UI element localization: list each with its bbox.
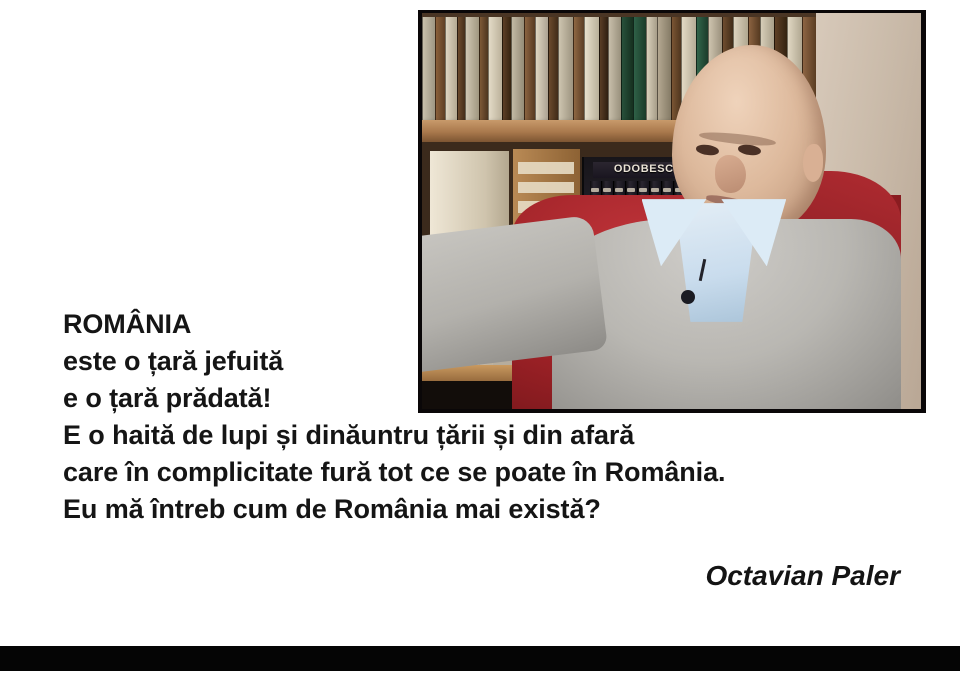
quote-text-block: ROMÂNIA este o țară jefuită e o țară pră… [63, 306, 923, 528]
quote-line-5: care în complicitate fură tot ce se poat… [63, 454, 923, 491]
quote-line-1: ROMÂNIA [63, 306, 923, 343]
quote-attribution: Octavian Paler [63, 560, 900, 592]
ear [803, 144, 823, 182]
quote-line-2: este o țară jefuită [63, 343, 923, 380]
quote-line-3: e o țară prădată! [63, 380, 923, 417]
eye-right [737, 144, 761, 157]
nose [715, 155, 746, 193]
quote-image-canvas: ODOBESCU [0, 0, 960, 678]
quote-line-4: E o haită de lupi și dinăuntru țării și … [63, 417, 923, 454]
quote-line-6: Eu mă întreb cum de România mai există? [63, 491, 923, 528]
eye-left [696, 144, 720, 157]
bottom-black-bar [0, 646, 960, 671]
